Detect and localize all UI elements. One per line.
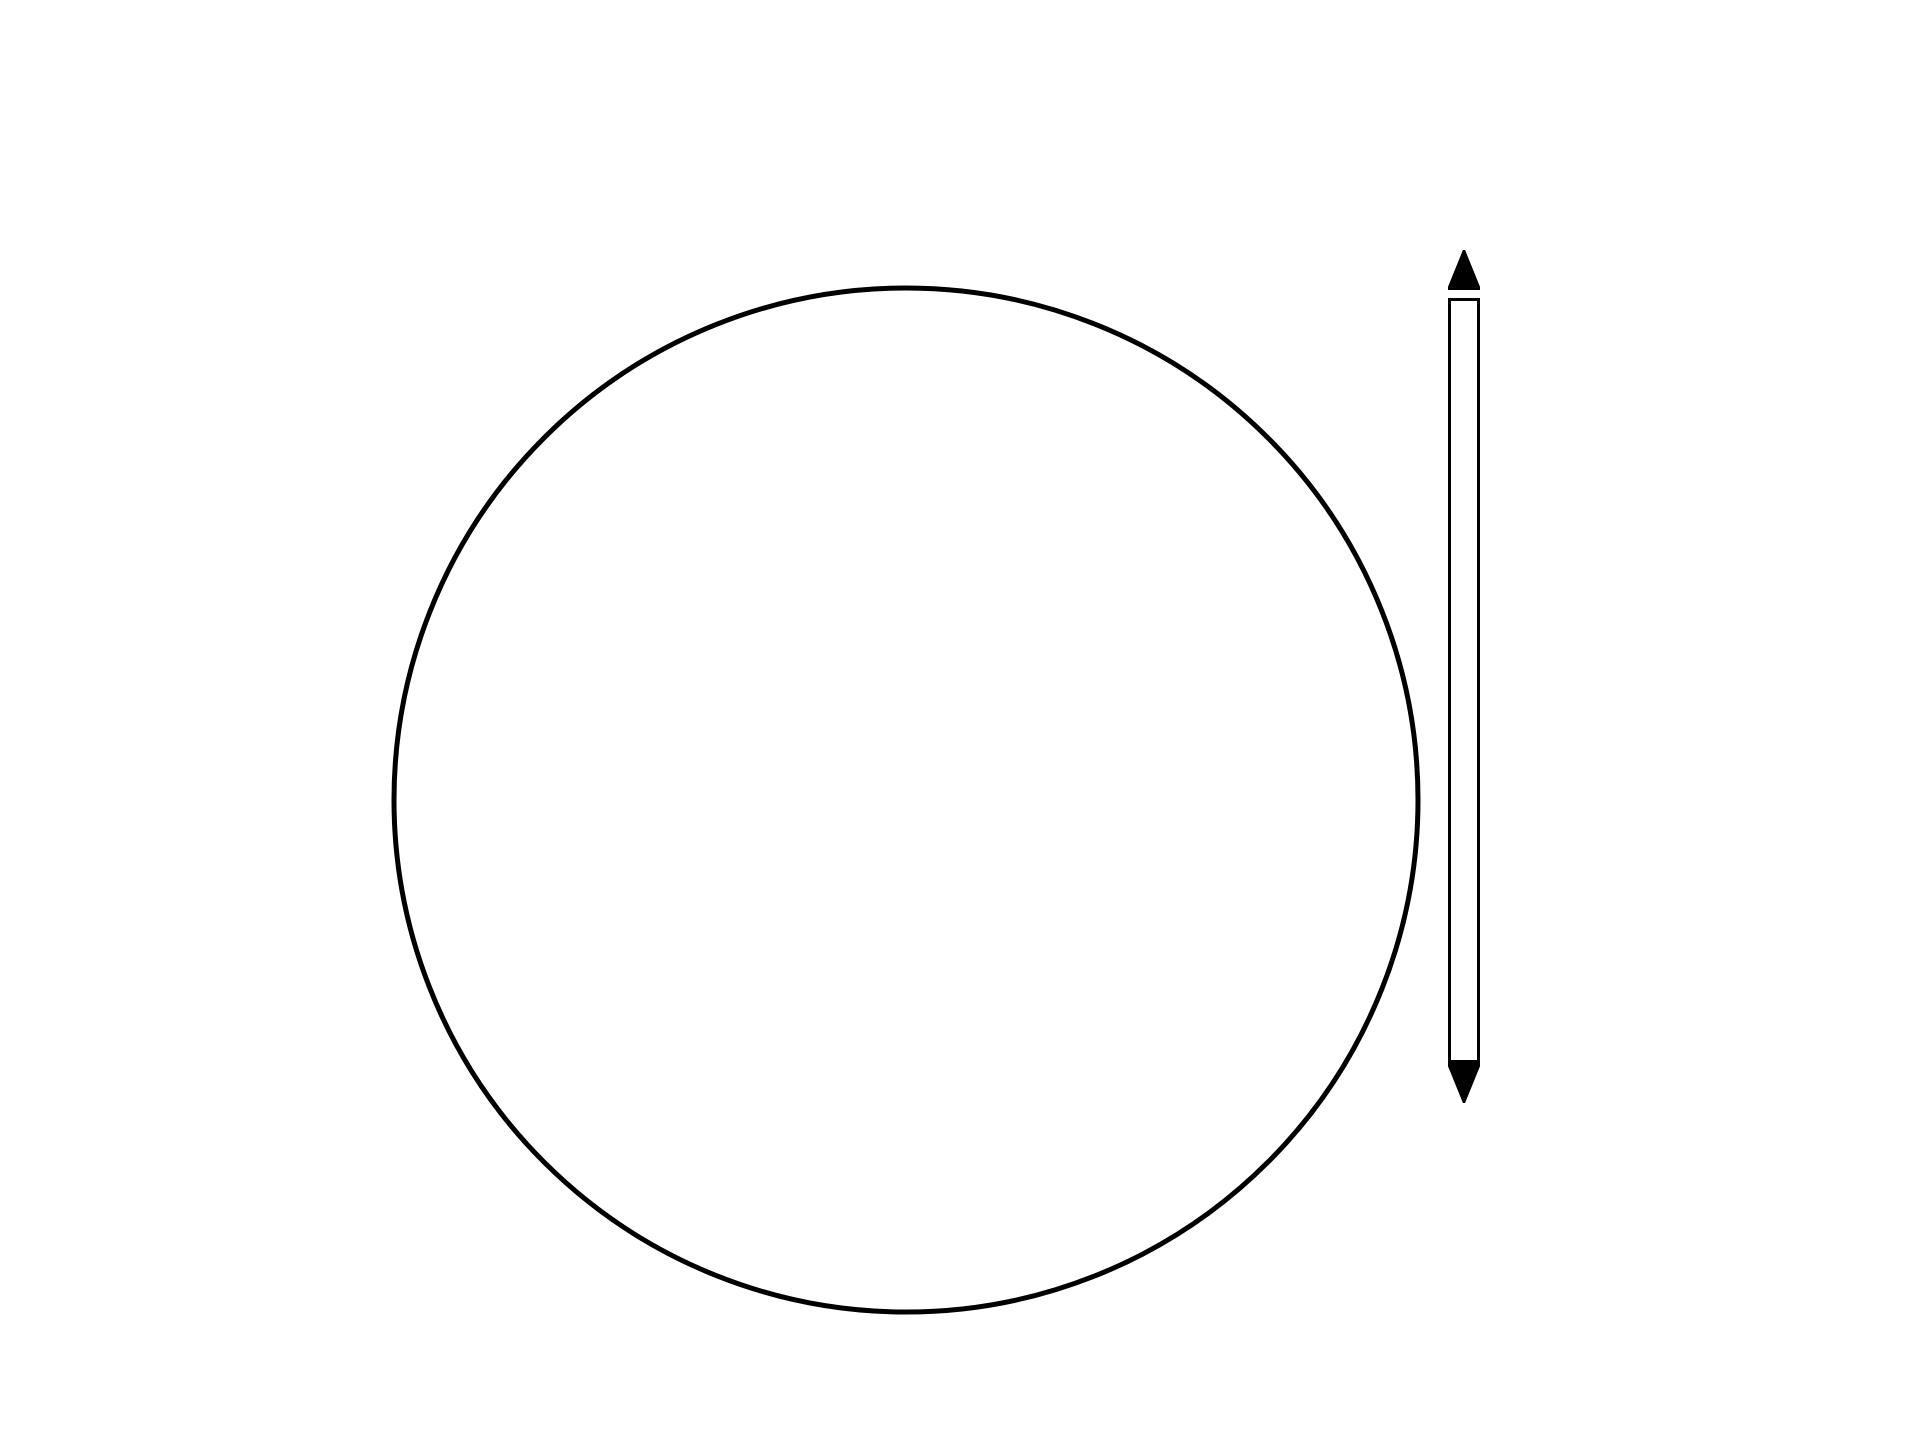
map-vector-layer	[386, 280, 1426, 1320]
colorbar-gradient	[1448, 298, 1480, 1063]
colorbar-over-arrow	[1448, 250, 1480, 290]
orthographic-globe-map	[386, 280, 1426, 1320]
colorbar-under-arrow	[1448, 1063, 1480, 1103]
globe-outline	[394, 288, 1418, 1312]
